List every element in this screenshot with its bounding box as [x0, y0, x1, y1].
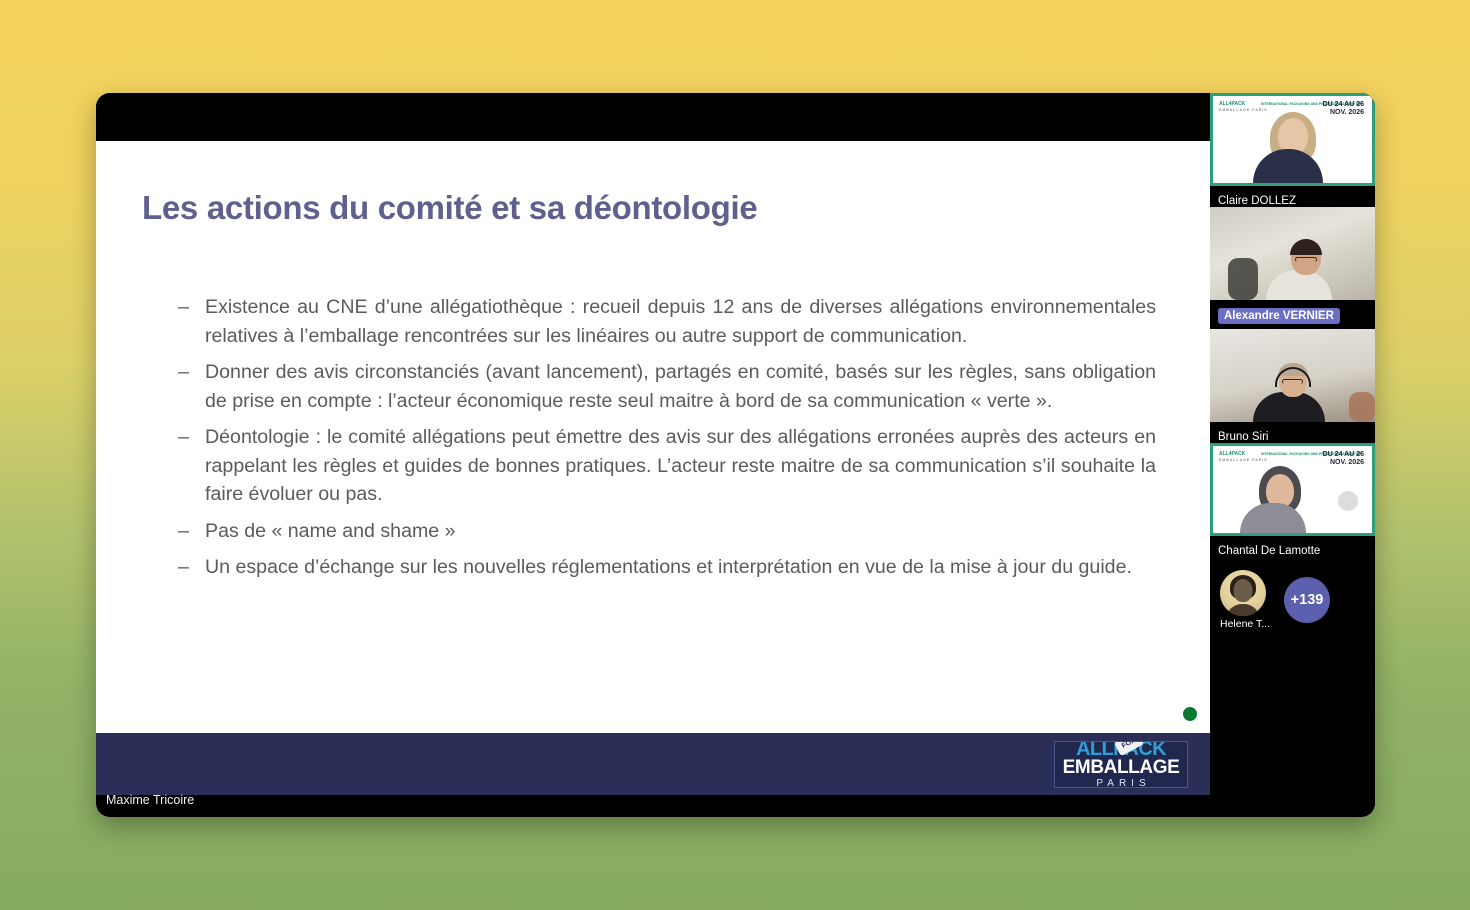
- glasses-icon: [1282, 379, 1303, 384]
- participant-name-label: Claire DOLLEZ: [1210, 186, 1375, 207]
- recording-status-dot: [1183, 707, 1197, 721]
- logo-emballage-text: EMBALLAGE: [1063, 759, 1180, 777]
- participant-tile[interactable]: Bruno Siri: [1210, 329, 1375, 443]
- bullet-item: – Déontologie : le comité allégations pe…: [178, 423, 1156, 509]
- logo-primary-line: ALLPACK FOR: [1076, 741, 1166, 759]
- participant-video[interactable]: ALL4PACK EMBALLAGE PARIS INTERNATIONAL P…: [1210, 93, 1375, 186]
- participant-name-label: Alexandre VERNIER: [1218, 308, 1340, 324]
- vbg-date: DU 24 AU 26 NOV. 2026: [1323, 451, 1364, 467]
- virtual-background: ALL4PACK EMBALLAGE PARIS INTERNATIONAL P…: [1213, 96, 1372, 183]
- participant-name-label: Bruno Siri: [1210, 422, 1375, 443]
- vbg-date-line2: NOV. 2026: [1323, 459, 1364, 467]
- window-top-bar: [96, 93, 1375, 141]
- overflow-avatar-wrap[interactable]: Helene T...: [1220, 570, 1266, 630]
- avatar[interactable]: [1220, 570, 1266, 616]
- participant-video[interactable]: ALL4PACK EMBALLAGE PARIS INTERNATIONAL P…: [1210, 443, 1375, 536]
- presenter-name-label: Maxime Tricoire: [106, 793, 194, 807]
- participant-overflow-row[interactable]: Helene T... +139: [1210, 557, 1375, 643]
- head-shape: [1279, 365, 1307, 397]
- slide-bullet-list: – Existence au CNE d’une allégatiothèque…: [178, 293, 1156, 590]
- slide-title: Les actions du comité et sa déontologie: [142, 189, 757, 227]
- bullet-item: – Existence au CNE d’une allégatiothèque…: [178, 293, 1156, 350]
- bullet-text: Pas de « name and shame »: [205, 520, 456, 542]
- bullet-text: Un espace d’échange sur les nouvelles ré…: [205, 556, 1132, 578]
- bullet-item: – Pas de « name and shame »: [178, 517, 1156, 546]
- bullet-item: – Un espace d’échange sur les nouvelles …: [178, 553, 1156, 582]
- participant-tile[interactable]: Alexandre VERNIER: [1210, 207, 1375, 329]
- vbg-date-line1: DU 24 AU 26: [1323, 451, 1364, 459]
- person-silhouette: [1253, 365, 1333, 422]
- bullet-marker: –: [178, 517, 189, 546]
- slide-footer-band: ALLPACK FOR EMBALLAGE PARIS: [96, 733, 1210, 795]
- bullet-marker: –: [178, 358, 189, 387]
- logo-all-text: ALL: [1076, 741, 1113, 760]
- participant-tile[interactable]: ALL4PACK EMBALLAGE PARIS INTERNATIONAL P…: [1210, 443, 1375, 557]
- glasses-icon: [1295, 257, 1317, 262]
- participant-rail: ALL4PACK EMBALLAGE PARIS INTERNATIONAL P…: [1210, 93, 1375, 817]
- video-scene: [1210, 207, 1375, 300]
- avatar-body-shape: [1226, 604, 1260, 616]
- torso-shape: [1266, 270, 1332, 300]
- participant-video[interactable]: [1210, 329, 1375, 422]
- all4pack-logo: ALLPACK FOR EMBALLAGE PARIS: [1054, 741, 1188, 788]
- bullet-marker: –: [178, 293, 189, 322]
- bullet-item: – Donner des avis circonstanciés (avant …: [178, 358, 1156, 415]
- overflow-avatar-name: Helene T...: [1220, 618, 1266, 630]
- shared-slide[interactable]: Les actions du comité et sa déontologie …: [96, 141, 1210, 795]
- background-blur-shape: [1228, 258, 1258, 300]
- bullet-marker: –: [178, 423, 189, 452]
- more-participants-badge[interactable]: +139: [1284, 577, 1330, 623]
- avatar-head-shape: [1234, 579, 1253, 602]
- person-silhouette: [1240, 454, 1320, 533]
- head-shape: [1291, 241, 1321, 275]
- virtual-background: ALL4PACK EMBALLAGE PARIS INTERNATIONAL P…: [1213, 446, 1372, 533]
- bullet-text: Existence au CNE d’une allégatiothèque :…: [205, 296, 1156, 347]
- meeting-window: Les actions du comité et sa déontologie …: [96, 93, 1375, 817]
- participant-video[interactable]: [1210, 207, 1375, 300]
- background-object-shape: [1349, 392, 1375, 422]
- video-scene: [1210, 329, 1375, 422]
- participant-tile[interactable]: ALL4PACK EMBALLAGE PARIS INTERNATIONAL P…: [1210, 93, 1375, 207]
- bullet-marker: –: [178, 553, 189, 582]
- person-silhouette: [1266, 241, 1346, 300]
- participant-name-label: Chantal De Lamotte: [1210, 536, 1375, 557]
- hair-shape: [1290, 239, 1322, 255]
- background-object-shape: [1338, 491, 1358, 511]
- logo-paris-text: PARIS: [1091, 777, 1150, 789]
- bullet-text: Déontologie : le comité allégations peut…: [205, 426, 1156, 505]
- person-silhouette: [1253, 98, 1333, 183]
- bullet-text: Donner des avis circonstanciés (avant la…: [205, 361, 1156, 412]
